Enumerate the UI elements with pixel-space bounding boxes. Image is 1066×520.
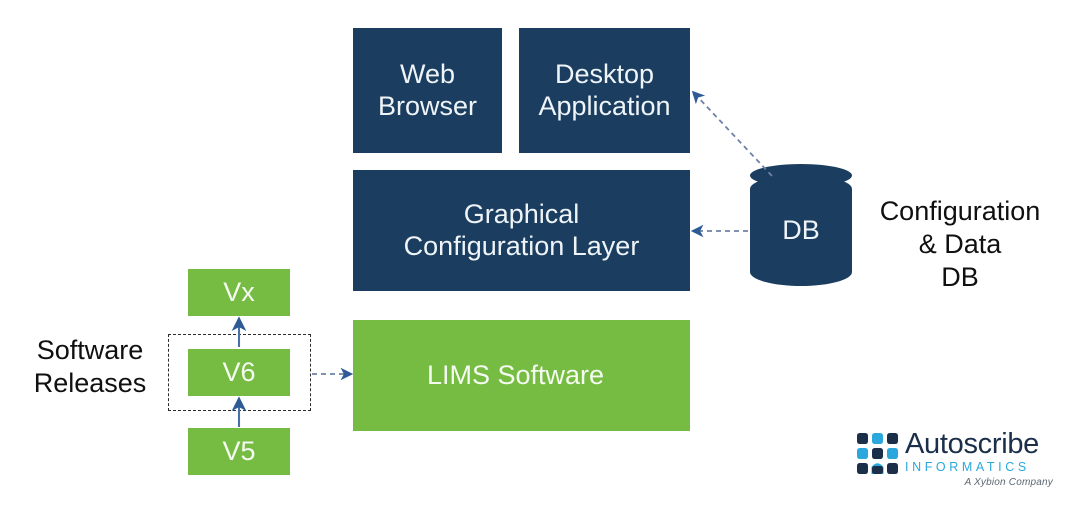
logo-text-block: Autoscribe INFORMATICS A Xybion Company: [905, 430, 1053, 488]
config-data-db-label: Configuration & Data DB: [862, 195, 1058, 294]
node-lims-software: LIMS Software: [353, 320, 690, 431]
node-graphical-configuration-layer: Graphical Configuration Layer: [353, 170, 690, 291]
node-desktop-application-line2: Application: [538, 91, 670, 123]
node-version-v5-label: V5: [222, 436, 255, 468]
software-releases-label: Software Releases: [14, 334, 166, 400]
db-cylinder-label: DB: [750, 164, 852, 297]
logo-wordmark: Autoscribe: [905, 430, 1053, 459]
node-db-cylinder: DB: [750, 164, 852, 297]
node-version-v6-label: V6: [222, 357, 255, 389]
node-version-vx: Vx: [188, 269, 290, 316]
autoscribe-grid-mark-icon: [857, 433, 899, 477]
node-gcl-line2: Configuration Layer: [404, 231, 640, 263]
config-data-db-line2: & Data: [862, 228, 1058, 261]
node-version-v5: V5: [188, 428, 290, 475]
software-releases-label-line2: Releases: [14, 367, 166, 400]
config-data-db-line1: Configuration: [862, 195, 1058, 228]
node-web-browser: Web Browser: [353, 28, 502, 153]
logo-tagline: A Xybion Company: [905, 478, 1053, 488]
node-gcl-line1: Graphical: [404, 199, 640, 231]
software-releases-label-line1: Software: [14, 334, 166, 367]
logo-subword: INFORMATICS: [905, 461, 1053, 474]
node-web-browser-line2: Browser: [378, 91, 477, 123]
config-data-db-line3: DB: [862, 261, 1058, 294]
node-version-v6: V6: [188, 349, 290, 396]
autoscribe-logo: Autoscribe INFORMATICS A Xybion Company: [857, 430, 1053, 492]
node-graphical-configuration-layer-text: Graphical Configuration Layer: [404, 199, 640, 263]
diagram-canvas: Web Browser Desktop Application Graphica…: [0, 0, 1066, 520]
node-desktop-application-text: Desktop Application: [538, 59, 670, 123]
node-desktop-application: Desktop Application: [519, 28, 690, 153]
node-web-browser-text: Web Browser: [378, 59, 477, 123]
node-desktop-application-line1: Desktop: [538, 59, 670, 91]
node-version-vx-label: Vx: [223, 277, 255, 309]
node-lims-software-text: LIMS Software: [427, 360, 604, 392]
node-web-browser-line1: Web: [378, 59, 477, 91]
